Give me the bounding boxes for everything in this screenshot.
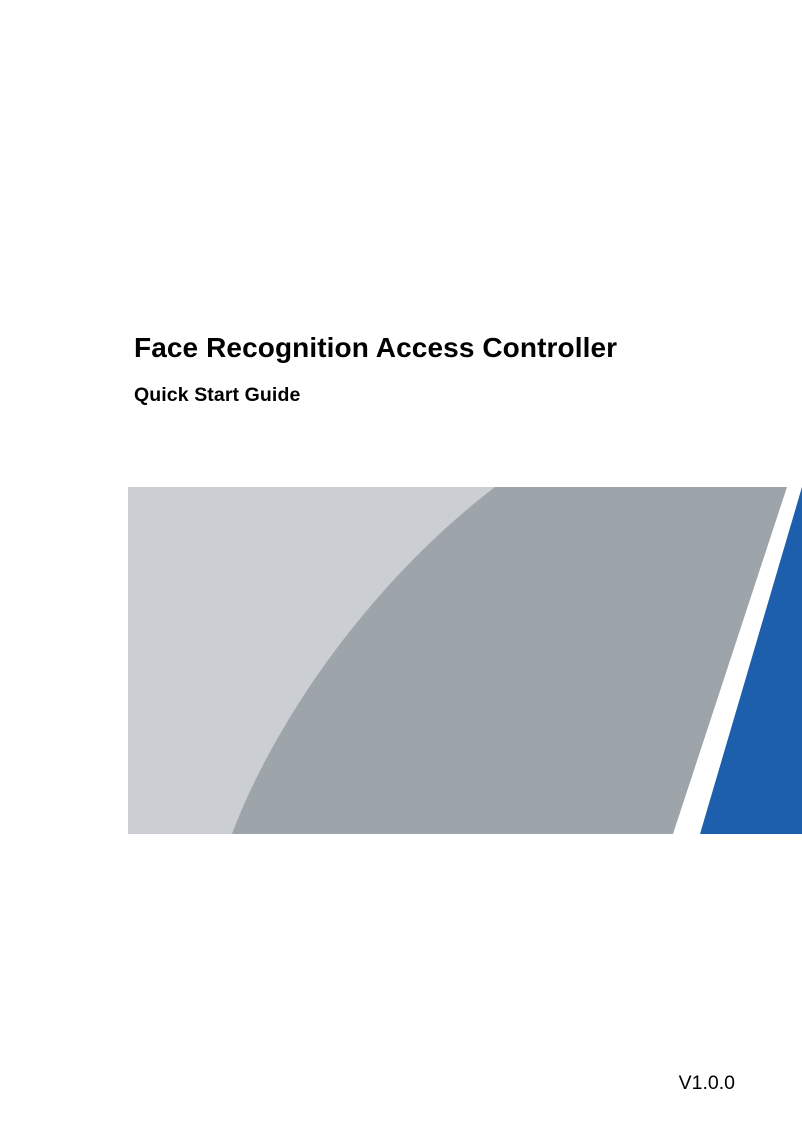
title-block: Face Recognition Access Controller Quick… bbox=[134, 330, 754, 408]
version-label: V1.0.0 bbox=[0, 1070, 735, 1096]
page-subtitle: Quick Start Guide bbox=[134, 366, 754, 408]
page-title: Face Recognition Access Controller bbox=[134, 330, 754, 366]
document-page: Face Recognition Access Controller Quick… bbox=[0, 0, 802, 1134]
cover-banner-svg bbox=[128, 487, 802, 834]
cover-banner-graphic bbox=[128, 487, 802, 834]
